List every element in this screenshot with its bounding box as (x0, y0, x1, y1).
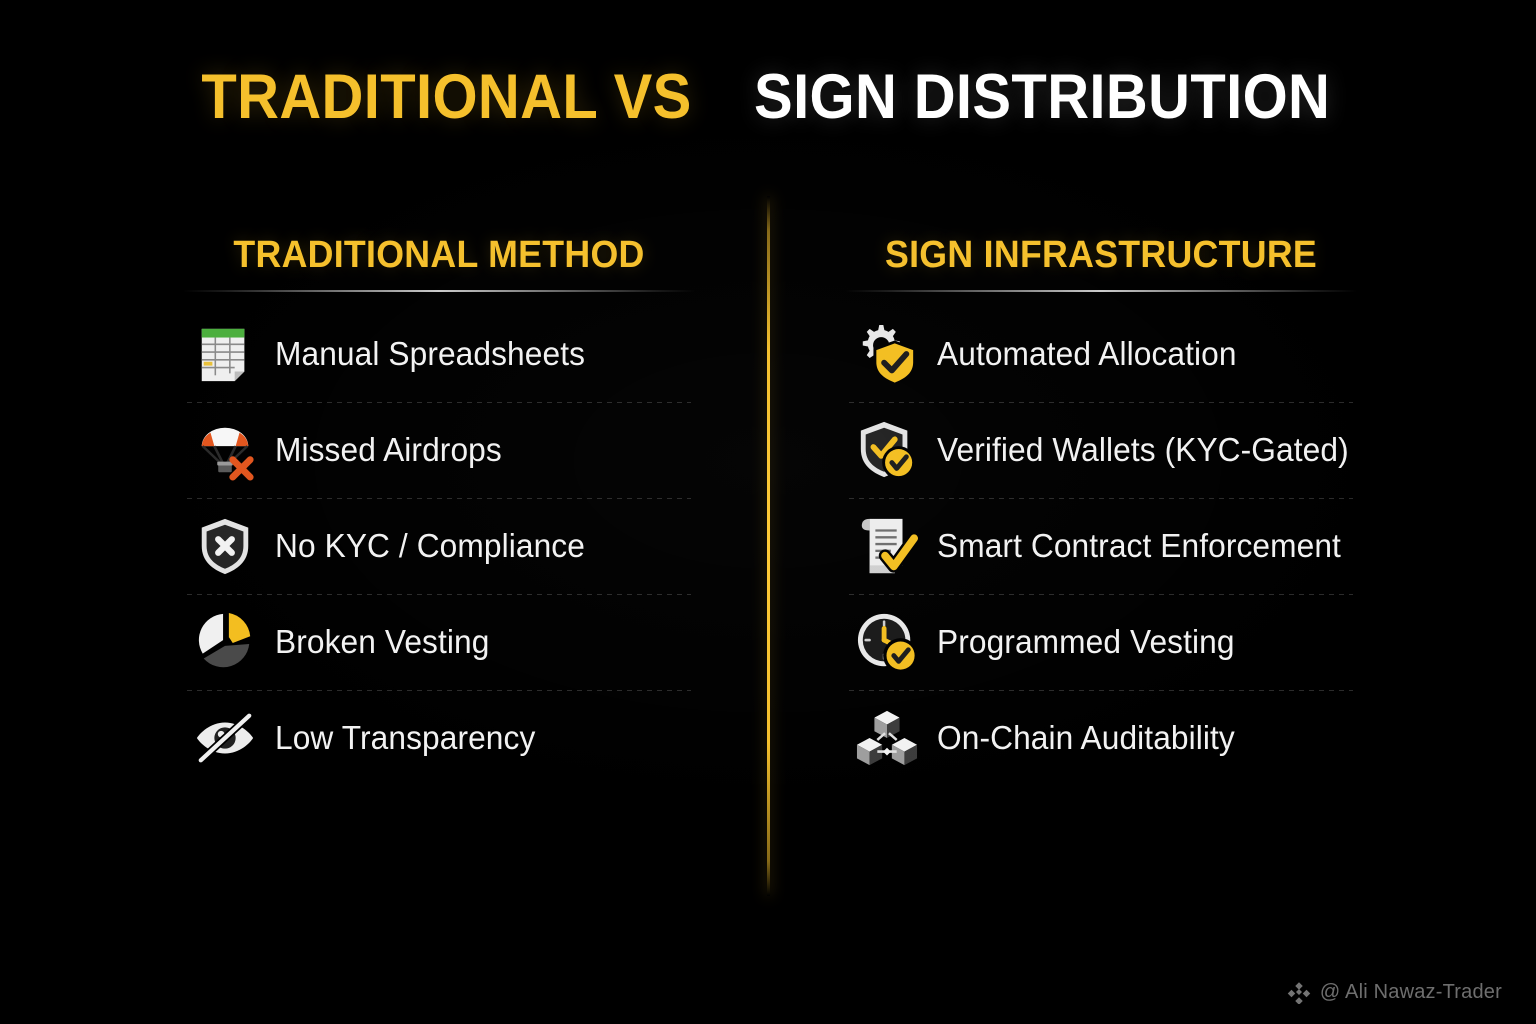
column-heading-traditional: TRADITIONAL METHOD (198, 236, 679, 282)
list-item[interactable]: Low Transparency (183, 690, 695, 786)
list-sign: Automated Allocation Verified Wallets (K… (845, 306, 1357, 786)
column-traditional: TRADITIONAL METHOD (183, 236, 695, 786)
column-heading-sign: SIGN INFRASTRUCTURE (860, 236, 1341, 282)
list-item[interactable]: Programmed Vesting (845, 594, 1357, 690)
list-item[interactable]: No KYC / Compliance (183, 498, 695, 594)
watermark: @ Ali Nawaz-Trader (1287, 980, 1502, 1004)
list-item-label: On-Chain Auditability (937, 719, 1235, 757)
list-item-label: Broken Vesting (275, 623, 489, 661)
eye-slash-icon (191, 704, 259, 772)
list-item-label: Manual Spreadsheets (275, 335, 585, 373)
list-item[interactable]: Broken Vesting (183, 594, 695, 690)
list-item-label: Low Transparency (275, 719, 535, 757)
broken-pie-chart-icon (191, 608, 259, 676)
contract-check-icon (853, 512, 921, 580)
shield-check-badge-icon (853, 416, 921, 484)
center-divider (767, 196, 770, 896)
list-item[interactable]: Smart Contract Enforcement (845, 498, 1357, 594)
parachute-cross-icon (191, 416, 259, 484)
binance-diamond-icon (1287, 980, 1311, 1004)
column-sign: SIGN INFRASTRUCTURE Automated All (845, 236, 1357, 786)
gear-shield-check-icon (853, 320, 921, 388)
infographic-canvas: TRADITIONAL VSSIGN DISTRIBUTION TRADITIO… (0, 0, 1536, 1024)
watermark-handle: @ Ali Nawaz-Trader (1320, 981, 1502, 1004)
clock-check-icon (853, 608, 921, 676)
shield-cross-icon (191, 512, 259, 580)
list-item[interactable]: Verified Wallets (KYC-Gated) (845, 402, 1357, 498)
heading-underline-left (183, 290, 695, 292)
list-item[interactable]: Automated Allocation (845, 306, 1357, 402)
page-title: TRADITIONAL VSSIGN DISTRIBUTION (0, 66, 1536, 129)
list-item[interactable]: On-Chain Auditability (845, 690, 1357, 786)
list-item-label: Programmed Vesting (937, 623, 1235, 661)
list-traditional: Manual Spreadsheets (183, 306, 695, 786)
title-gold-part: TRADITIONAL VS (202, 66, 692, 129)
list-item-label: Verified Wallets (KYC-Gated) (937, 431, 1349, 469)
list-item-label: Smart Contract Enforcement (937, 527, 1341, 565)
list-item-label: No KYC / Compliance (275, 527, 585, 565)
title-white-part: SIGN DISTRIBUTION (754, 66, 1330, 129)
spreadsheet-icon (191, 320, 259, 388)
list-item-label: Automated Allocation (937, 335, 1237, 373)
list-item[interactable]: Manual Spreadsheets (183, 306, 695, 402)
list-item[interactable]: Missed Airdrops (183, 402, 695, 498)
list-item-label: Missed Airdrops (275, 431, 502, 469)
heading-underline-right (845, 290, 1357, 292)
blockchain-cubes-icon (853, 704, 921, 772)
